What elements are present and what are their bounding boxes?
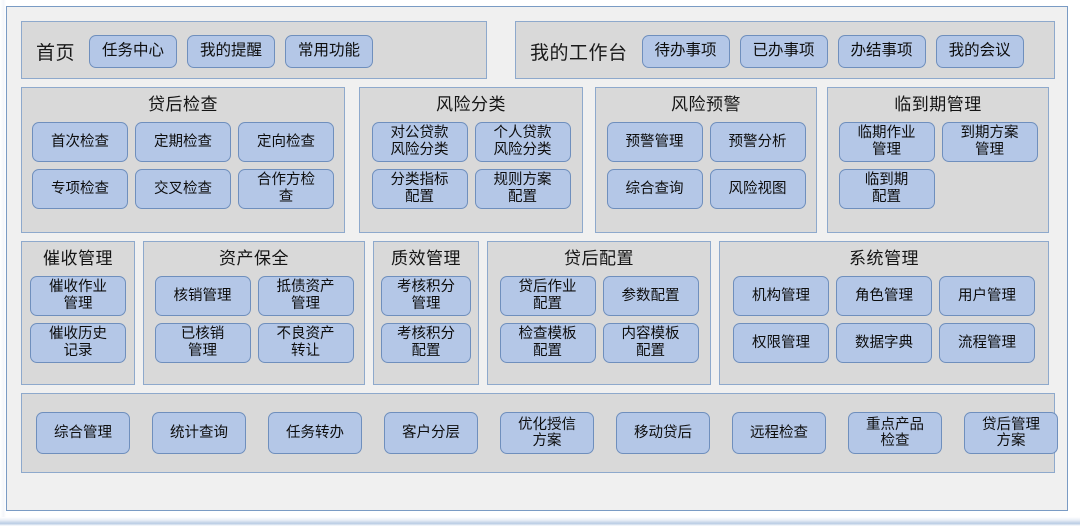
application-window: 首页 任务中心 我的提醒 常用功能 我的工作台 待办事项 已办事项 办结事项 我… <box>6 6 1068 511</box>
top-navigation-row: 首页 任务中心 我的提醒 常用功能 我的工作台 待办事项 已办事项 办结事项 我… <box>21 21 1055 79</box>
module-button[interactable]: 流程管理 <box>939 323 1035 363</box>
module-button[interactable]: 移动贷后 <box>616 412 710 454</box>
group-button-grid: 机构管理角色管理用户管理权限管理数据字典流程管理 <box>728 276 1040 363</box>
group-button-grid: 首次检查定期检查定向检查专项检查交叉检查合作方检 查 <box>30 122 336 209</box>
group-button-grid: 催收作业 管理催收历史 记录 <box>30 276 126 363</box>
module-button[interactable]: 预警管理 <box>607 122 703 162</box>
group-title: 系统管理 <box>728 250 1040 269</box>
group-button-grid: 临期作业 管理到期方案 管理临到期 配置 <box>836 122 1040 209</box>
home-title: 首页 <box>36 38 75 65</box>
module-button[interactable]: 临到期 配置 <box>839 169 935 209</box>
module-button[interactable]: 综合查询 <box>607 169 703 209</box>
module-button[interactable]: 考核积分 管理 <box>381 276 471 316</box>
group-button-grid: 对公贷款 风险分类个人贷款 风险分类分类指标 配置规则方案 配置 <box>368 122 574 209</box>
module-button[interactable]: 核销管理 <box>155 276 251 316</box>
module-button[interactable]: 预警分析 <box>710 122 806 162</box>
home-nav-panel: 首页 任务中心 我的提醒 常用功能 <box>21 21 487 79</box>
group-title: 资产保全 <box>152 250 356 269</box>
quick-links-panel: 综合管理统计查询任务转办客户分层优化授信 方案移动贷后远程检查重点产品 检查贷后… <box>21 393 1055 473</box>
group-button-grid: 核销管理抵债资产 管理已核销 管理不良资产 转让 <box>152 276 356 363</box>
workbench-nav-bar: 我的工作台 待办事项 已办事项 办结事项 我的会议 <box>516 22 1054 80</box>
group-quality-management: 质效管理 考核积分 管理考核积分 配置 <box>373 241 479 385</box>
module-button[interactable]: 考核积分 配置 <box>381 323 471 363</box>
module-button[interactable]: 风险视图 <box>710 169 806 209</box>
group-title: 质效管理 <box>382 250 470 269</box>
module-button[interactable]: 定期检查 <box>135 122 231 162</box>
nav-button-my-reminders[interactable]: 我的提醒 <box>187 35 275 68</box>
module-button[interactable]: 综合管理 <box>36 412 130 454</box>
module-button[interactable]: 抵债资产 管理 <box>258 276 354 316</box>
module-button[interactable]: 合作方检 查 <box>238 169 334 209</box>
dashboard-rows: 首页 任务中心 我的提醒 常用功能 我的工作台 待办事项 已办事项 办结事项 我… <box>21 21 1055 473</box>
group-button-grid: 预警管理预警分析综合查询风险视图 <box>604 122 808 209</box>
quick-links-strip: 综合管理统计查询任务转办客户分层优化授信 方案移动贷后远程检查重点产品 检查贷后… <box>22 394 1054 472</box>
module-button[interactable]: 专项检查 <box>32 169 128 209</box>
module-button[interactable]: 用户管理 <box>939 276 1035 316</box>
module-button[interactable]: 催收作业 管理 <box>30 276 126 316</box>
nav-button-my-meetings[interactable]: 我的会议 <box>936 35 1024 68</box>
module-button[interactable]: 权限管理 <box>733 323 829 363</box>
module-row-2: 贷后检查 首次检查定期检查定向检查专项检查交叉检查合作方检 查 风险分类 对公贷… <box>21 87 1055 233</box>
nav-button-done-items[interactable]: 已办事项 <box>740 35 828 68</box>
nav-button-task-center[interactable]: 任务中心 <box>89 35 177 68</box>
module-button[interactable]: 分类指标 配置 <box>372 169 468 209</box>
group-title: 贷后检查 <box>30 96 336 115</box>
module-row-3: 催收管理 催收作业 管理催收历史 记录 资产保全 核销管理抵债资产 管理已核销 … <box>21 241 1055 385</box>
group-post-loan-configuration: 贷后配置 贷后作业 配置参数配置检查模板 配置内容模板 配置 <box>487 241 711 385</box>
home-nav-bar: 首页 任务中心 我的提醒 常用功能 <box>22 22 486 80</box>
module-button[interactable]: 参数配置 <box>603 276 699 316</box>
workbench-nav-panel: 我的工作台 待办事项 已办事项 办结事项 我的会议 <box>515 21 1055 79</box>
group-title: 风险分类 <box>368 96 574 115</box>
module-button[interactable]: 定向检查 <box>238 122 334 162</box>
module-button[interactable]: 数据字典 <box>836 323 932 363</box>
group-button-grid: 考核积分 管理考核积分 配置 <box>382 276 470 363</box>
group-system-management: 系统管理 机构管理角色管理用户管理权限管理数据字典流程管理 <box>719 241 1049 385</box>
group-button-grid: 贷后作业 配置参数配置检查模板 配置内容模板 配置 <box>496 276 702 363</box>
module-row-4: 综合管理统计查询任务转办客户分层优化授信 方案移动贷后远程检查重点产品 检查贷后… <box>21 393 1055 473</box>
module-button[interactable]: 客户分层 <box>384 412 478 454</box>
module-button[interactable]: 对公贷款 风险分类 <box>372 122 468 162</box>
group-maturity-management: 临到期管理 临期作业 管理到期方案 管理临到期 配置 <box>827 87 1049 233</box>
module-button[interactable]: 角色管理 <box>836 276 932 316</box>
nav-button-todo-items[interactable]: 待办事项 <box>642 35 730 68</box>
module-button[interactable]: 机构管理 <box>733 276 829 316</box>
group-collection-management: 催收管理 催收作业 管理催收历史 记录 <box>21 241 135 385</box>
workbench-title: 我的工作台 <box>530 38 628 65</box>
module-button[interactable]: 已核销 管理 <box>155 323 251 363</box>
nav-button-common-functions[interactable]: 常用功能 <box>285 35 373 68</box>
module-button[interactable]: 优化授信 方案 <box>500 412 594 454</box>
group-title: 临到期管理 <box>836 96 1040 115</box>
group-title: 风险预警 <box>604 96 808 115</box>
nav-button-completed-items[interactable]: 办结事项 <box>838 35 926 68</box>
group-risk-classification: 风险分类 对公贷款 风险分类个人贷款 风险分类分类指标 配置规则方案 配置 <box>359 87 583 233</box>
module-button[interactable]: 首次检查 <box>32 122 128 162</box>
module-button[interactable]: 贷后管理 方案 <box>964 412 1058 454</box>
module-button[interactable]: 任务转办 <box>268 412 362 454</box>
group-title: 催收管理 <box>30 250 126 269</box>
module-button[interactable]: 统计查询 <box>152 412 246 454</box>
module-button[interactable]: 规则方案 配置 <box>475 169 571 209</box>
module-button[interactable]: 内容模板 配置 <box>603 323 699 363</box>
module-button[interactable]: 检查模板 配置 <box>500 323 596 363</box>
group-asset-preservation: 资产保全 核销管理抵债资产 管理已核销 管理不良资产 转让 <box>143 241 365 385</box>
module-button[interactable]: 临期作业 管理 <box>839 122 935 162</box>
group-title: 贷后配置 <box>496 250 702 269</box>
module-button[interactable]: 远程检查 <box>732 412 826 454</box>
window-bottom-edge <box>0 517 1080 526</box>
module-button[interactable]: 个人贷款 风险分类 <box>475 122 571 162</box>
module-button[interactable]: 贷后作业 配置 <box>500 276 596 316</box>
module-button[interactable]: 催收历史 记录 <box>30 323 126 363</box>
module-button[interactable]: 交叉检查 <box>135 169 231 209</box>
group-risk-alert: 风险预警 预警管理预警分析综合查询风险视图 <box>595 87 817 233</box>
group-post-loan-inspection: 贷后检查 首次检查定期检查定向检查专项检查交叉检查合作方检 查 <box>21 87 345 233</box>
module-button[interactable]: 不良资产 转让 <box>258 323 354 363</box>
module-button[interactable]: 到期方案 管理 <box>942 122 1038 162</box>
module-button[interactable]: 重点产品 检查 <box>848 412 942 454</box>
